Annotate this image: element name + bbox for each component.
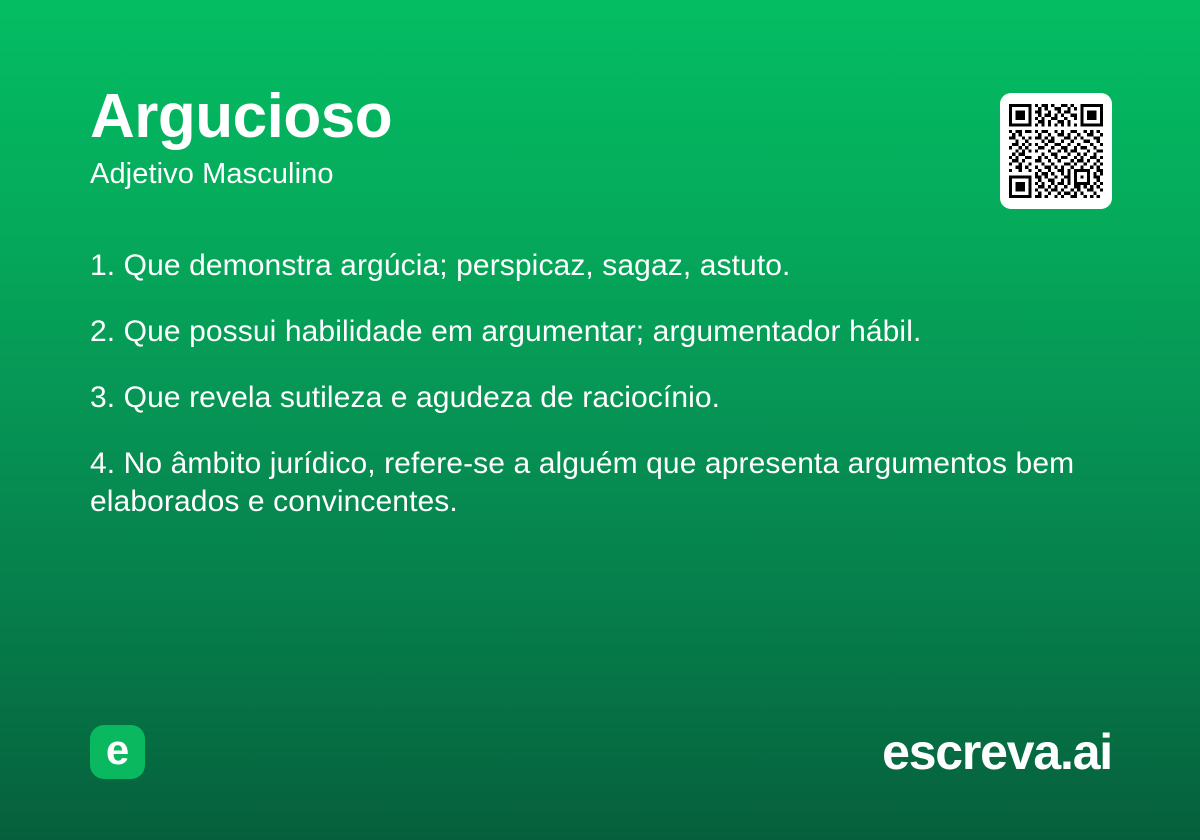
qr-code-icon — [1009, 104, 1103, 198]
definition-item: 1. Que demonstra argúcia; perspicaz, sag… — [90, 247, 1090, 285]
dictionary-card: Argucioso Adjetivo Masculino — [0, 0, 1200, 840]
definition-item: 3. Que revela sutileza e agudeza de raci… — [90, 379, 1090, 417]
qr-code-card[interactable] — [1000, 93, 1112, 209]
word-class-label: Adjetivo Masculino — [90, 159, 1110, 191]
definition-item: 4. No âmbito jurídico, refere-se a algué… — [90, 445, 1090, 521]
definitions-list: 1. Que demonstra argúcia; perspicaz, sag… — [90, 247, 1090, 521]
escreva-logo-icon: e — [90, 725, 145, 779]
definition-item: 2. Que possui habilidade em argumentar; … — [90, 313, 1090, 351]
brand-wordmark: escreva.ai — [882, 727, 1112, 777]
page-title: Argucioso — [90, 86, 1110, 148]
card-header: Argucioso Adjetivo Masculino — [90, 86, 1110, 191]
card-footer: e escreva.ai — [90, 725, 1112, 779]
brand-logo-letter: e — [106, 729, 129, 771]
